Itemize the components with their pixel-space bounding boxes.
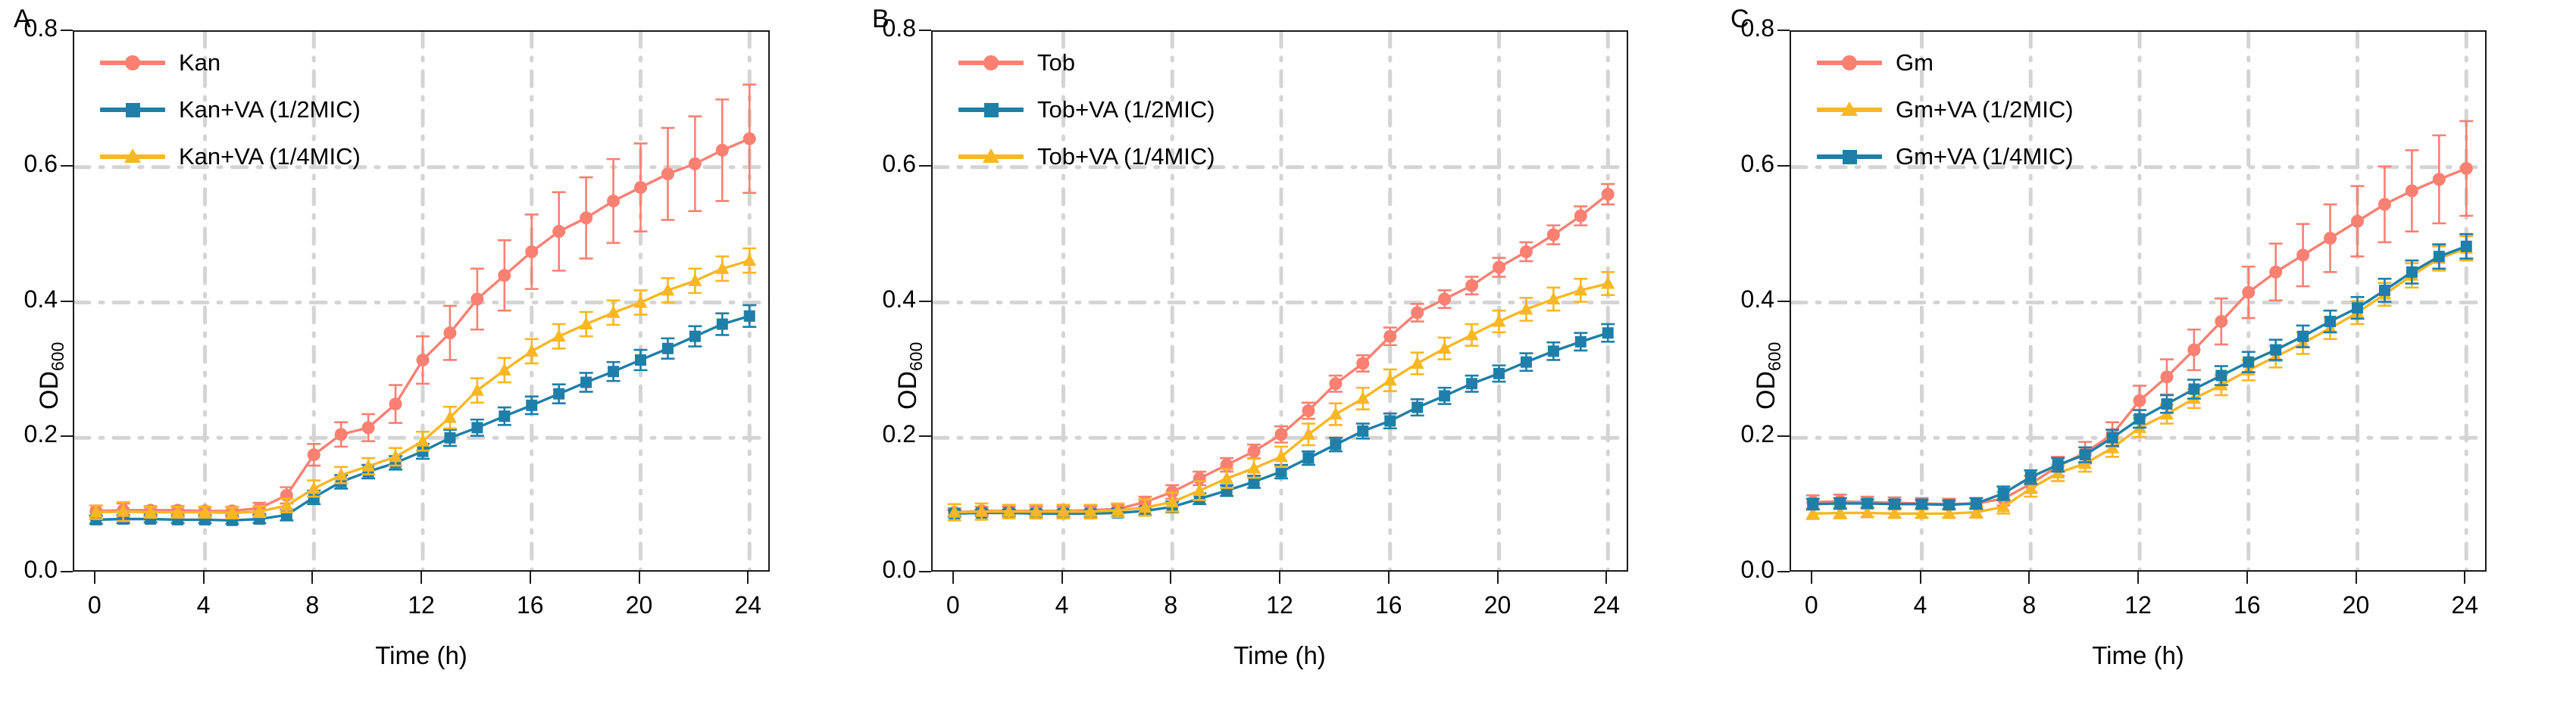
data-point (525, 245, 538, 258)
data-point (1411, 306, 1424, 319)
data-point (2243, 357, 2254, 368)
data-point (2188, 383, 2199, 394)
data-point (2324, 232, 2337, 245)
y-tick-label: 0.2 (849, 420, 916, 448)
data-point (580, 211, 592, 224)
legend-label: Kan (179, 49, 220, 76)
data-point (470, 293, 483, 306)
data-point (1834, 497, 1846, 509)
y-axis-label: OD600 (1752, 341, 1785, 409)
legend-item-2[interactable]: Tob+VA (1/2MIC) (958, 86, 1215, 133)
y-tick-label: 0.4 (849, 285, 916, 313)
legend-item-1[interactable]: Tob (958, 39, 1215, 86)
data-point (607, 195, 620, 207)
x-tick-label: 8 (1999, 591, 2059, 619)
data-point (1248, 445, 1261, 458)
y-tick-label: 0.0 (849, 556, 916, 584)
data-point (2269, 266, 2282, 279)
data-point (1383, 330, 1396, 343)
data-point (635, 354, 646, 366)
data-point (2161, 398, 2172, 410)
data-point (1807, 498, 1818, 510)
legend-item-1[interactable]: Gm (1817, 39, 2074, 86)
data-point (2297, 331, 2309, 342)
legend-line (1817, 154, 1882, 159)
x-axis-label: Time (h) (73, 641, 770, 670)
data-point (1602, 188, 1615, 201)
data-point (444, 432, 455, 444)
data-point (280, 498, 293, 511)
x-tick-label: 4 (1032, 591, 1093, 619)
x-tick-label: 0 (64, 591, 125, 619)
legend-label: Tob (1037, 49, 1075, 76)
data-point (1575, 336, 1587, 348)
y-tick-label: 0.2 (1708, 420, 1774, 448)
x-tick-mark (2246, 572, 2248, 584)
x-tick-mark (420, 572, 422, 584)
x-tick-mark (1388, 572, 1390, 584)
data-point (2352, 302, 2363, 313)
y-tick-mark (919, 301, 931, 302)
x-tick-mark (1605, 572, 1607, 584)
data-point (1302, 427, 1315, 440)
data-point (2378, 198, 2391, 210)
x-tick-mark (952, 572, 954, 584)
data-point (335, 428, 348, 441)
x-tick-label: 16 (1358, 591, 1419, 619)
data-point (1411, 356, 1424, 369)
data-point (2406, 185, 2418, 198)
x-tick-label: 16 (2217, 591, 2277, 619)
data-point (2351, 215, 2364, 228)
legend: TobTob+VA (1/2MIC)Tob+VA (1/4MIC) (958, 39, 1215, 180)
data-point (2052, 460, 2064, 471)
y-axis-label: OD600 (893, 341, 927, 409)
data-point (1548, 345, 1559, 357)
legend-label: Kan+VA (1/4MIC) (179, 143, 361, 170)
x-tick-mark (203, 572, 205, 584)
data-point (1574, 210, 1587, 223)
data-point (417, 354, 430, 366)
legend-marker-circle (1842, 55, 1857, 70)
y-tick-label: 0.8 (849, 14, 916, 42)
legend: GmGm+VA (1/2MIC)Gm+VA (1/4MIC) (1817, 39, 2074, 180)
x-tick-label: 12 (2108, 591, 2168, 619)
y-tick-mark (919, 30, 931, 31)
data-point (662, 343, 674, 354)
data-point (1889, 498, 1900, 510)
x-tick-mark (1811, 572, 1812, 584)
data-point (362, 421, 375, 434)
data-point (1330, 439, 1341, 451)
legend-marker-square (1843, 150, 1857, 164)
data-point (2296, 248, 2309, 261)
y-tick-label: 0.6 (1708, 150, 1774, 178)
x-tick-label: 12 (1249, 591, 1310, 619)
legend-marker-circle (983, 55, 999, 70)
y-axis-label-text: OD (1752, 371, 1780, 410)
legend-marker-triangle (124, 148, 141, 163)
y-tick-mark (61, 30, 73, 31)
data-point (661, 167, 674, 180)
legend-marker-circle (125, 55, 140, 70)
x-tick-label: 24 (1576, 591, 1637, 619)
data-point (498, 363, 511, 376)
y-axis-label-subscript: 600 (906, 341, 926, 370)
legend-line (1817, 108, 1882, 112)
y-tick-mark (919, 435, 931, 437)
x-tick-mark (1061, 572, 1063, 584)
legend-line (100, 108, 165, 112)
legend-marker-triangle (1841, 101, 1858, 116)
data-point (744, 310, 755, 322)
data-point (1356, 357, 1369, 369)
data-point (1916, 498, 1927, 510)
data-point (2461, 241, 2472, 252)
data-point (2270, 345, 2281, 356)
legend-label: Kan+VA (1/2MIC) (179, 96, 361, 123)
y-tick-label: 0.2 (0, 420, 58, 448)
data-point (2324, 316, 2336, 327)
x-tick-label: 16 (500, 591, 561, 619)
data-point (689, 331, 701, 342)
y-tick-mark (1777, 571, 1790, 572)
legend-item-1[interactable]: Kan (100, 39, 361, 86)
x-tick-mark (311, 572, 313, 584)
data-point (1547, 229, 1560, 242)
data-point (2215, 370, 2227, 382)
y-tick-label: 0.8 (1708, 14, 1774, 42)
x-axis-label: Time (h) (931, 641, 1628, 670)
x-tick-label: 8 (282, 591, 342, 619)
x-tick-label: 12 (391, 591, 452, 619)
data-point (2134, 394, 2146, 407)
y-tick-mark (919, 165, 931, 167)
legend-line (100, 61, 165, 65)
x-tick-mark (639, 572, 640, 584)
data-point (443, 326, 456, 339)
x-tick-label: 20 (1468, 591, 1528, 619)
y-tick-label: 0.6 (0, 150, 58, 178)
legend-item-3[interactable]: Tob+VA (1/4MIC) (958, 133, 1215, 180)
legend-item-2[interactable]: Kan+VA (1/2MIC) (100, 86, 361, 133)
y-axis-label: OD600 (35, 341, 68, 409)
legend-item-3[interactable]: Kan+VA (1/4MIC) (100, 133, 361, 180)
data-point (717, 319, 728, 330)
data-point (2433, 173, 2446, 186)
data-point (2379, 285, 2390, 296)
y-tick-label: 0.6 (849, 150, 916, 178)
y-tick-mark (919, 571, 931, 572)
data-point (1357, 426, 1368, 437)
data-point (1521, 357, 1532, 368)
data-point (1493, 368, 1505, 379)
x-tick-label: 20 (2326, 591, 2387, 619)
y-tick-mark (1777, 301, 1790, 302)
data-point (1329, 377, 1342, 390)
data-point (1329, 407, 1343, 419)
data-point (1601, 276, 1615, 289)
data-point (2134, 413, 2146, 425)
data-point (1302, 404, 1315, 417)
data-point (1862, 497, 1873, 509)
y-tick-label: 0.0 (0, 556, 58, 584)
data-point (1411, 402, 1423, 413)
data-point (498, 269, 511, 282)
x-tick-mark (2464, 572, 2465, 584)
legend-marker-square (126, 103, 140, 117)
y-tick-mark (1777, 165, 1790, 167)
legend-item-3[interactable]: Gm+VA (1/4MIC) (1817, 133, 2074, 180)
x-tick-mark (2028, 572, 2030, 584)
y-tick-mark (61, 301, 73, 302)
x-tick-label: 8 (1140, 591, 1201, 619)
legend-label: Gm+VA (1/2MIC) (1896, 96, 2074, 123)
x-tick-label: 20 (609, 591, 670, 619)
y-tick-mark (61, 571, 73, 572)
data-point (2160, 370, 2173, 383)
y-axis-label-subscript: 600 (48, 341, 67, 370)
legend-label: Gm+VA (1/4MIC) (1896, 143, 2074, 170)
x-tick-label: 4 (174, 591, 234, 619)
data-point (689, 157, 702, 170)
y-tick-label: 0.8 (0, 14, 58, 42)
x-tick-label: 0 (923, 591, 983, 619)
panel-a: AOD600KanKan+VA (1/2MIC)Kan+VA (1/4MIC)0… (0, 0, 858, 714)
y-tick-label: 0.4 (0, 285, 58, 313)
x-tick-mark (1920, 572, 1921, 584)
data-point (580, 376, 592, 388)
panel-b: BOD600TobTob+VA (1/2MIC)Tob+VA (1/4MIC)0… (858, 0, 1717, 714)
x-tick-mark (530, 572, 531, 584)
x-tick-mark (94, 572, 95, 584)
data-point (743, 133, 756, 145)
data-point (470, 383, 484, 396)
legend-line (100, 154, 165, 159)
data-point (1439, 390, 1450, 401)
x-tick-mark (747, 572, 749, 584)
data-point (1356, 391, 1370, 404)
data-point (1438, 293, 1451, 306)
data-point (1383, 373, 1397, 386)
data-point (608, 366, 619, 377)
data-point (389, 398, 402, 410)
legend-label: Tob+VA (1/2MIC) (1037, 96, 1215, 123)
legend: KanKan+VA (1/2MIC)Kan+VA (1/4MIC) (100, 39, 361, 180)
data-point (471, 422, 483, 433)
y-axis-label-text: OD (893, 371, 922, 410)
y-tick-mark (61, 435, 73, 437)
data-point (1384, 415, 1396, 426)
x-tick-label: 24 (717, 591, 778, 619)
y-tick-mark (1777, 30, 1790, 31)
figure-growth-curves: AOD600KanKan+VA (1/2MIC)Kan+VA (1/4MIC)0… (0, 0, 2576, 714)
x-tick-mark (2356, 572, 2357, 584)
panel-c: COD600GmGm+VA (1/2MIC)Gm+VA (1/4MIC)0.00… (1717, 0, 2575, 714)
data-point (1520, 245, 1533, 258)
data-point (1943, 499, 1955, 510)
x-tick-mark (1497, 572, 1499, 584)
data-point (2406, 267, 2418, 278)
y-axis-label-text: OD (35, 371, 64, 410)
legend-line (958, 108, 1024, 112)
x-tick-mark (2137, 572, 2139, 584)
data-point (716, 144, 729, 157)
legend-item-2[interactable]: Gm+VA (1/2MIC) (1817, 86, 2074, 133)
y-tick-mark (61, 165, 73, 167)
data-point (2460, 162, 2473, 175)
data-point (742, 254, 756, 267)
y-tick-mark (1777, 435, 1790, 437)
x-tick-label: 24 (2434, 591, 2495, 619)
data-point (2080, 449, 2091, 460)
data-point (1275, 428, 1288, 441)
legend-marker-triangle (983, 148, 999, 163)
data-point (1466, 378, 1477, 389)
x-axis-label: Time (h) (1790, 641, 2487, 670)
data-point (552, 225, 565, 238)
legend-label: Gm (1896, 49, 1934, 76)
x-tick-mark (1170, 572, 1171, 584)
y-tick-label: 0.4 (1708, 285, 1774, 313)
legend-line (1817, 61, 1882, 65)
data-point (2434, 251, 2445, 262)
data-point (2187, 344, 2200, 357)
data-point (526, 400, 537, 411)
legend-marker-square (984, 103, 999, 117)
data-point (1971, 497, 1982, 509)
data-point (1493, 261, 1505, 274)
x-tick-mark (1279, 572, 1280, 584)
data-point (2242, 286, 2255, 299)
data-point (553, 388, 564, 400)
data-point (1465, 279, 1478, 292)
legend-line (958, 61, 1024, 65)
data-point (634, 181, 647, 194)
data-point (1602, 327, 1614, 338)
data-point (1302, 453, 1314, 464)
y-tick-label: 0.0 (1708, 556, 1774, 584)
y-axis-label-subscript: 600 (1765, 341, 1784, 370)
data-point (308, 448, 320, 461)
legend-line (958, 154, 1024, 159)
data-point (1998, 488, 2009, 499)
data-point (525, 344, 539, 357)
data-point (2215, 315, 2227, 328)
data-point (499, 410, 510, 422)
x-tick-label: 0 (1781, 591, 1842, 619)
x-tick-label: 4 (1890, 591, 1951, 619)
data-point (2107, 432, 2118, 444)
data-point (2025, 472, 2037, 483)
legend-label: Tob+VA (1/4MIC) (1037, 143, 1215, 170)
